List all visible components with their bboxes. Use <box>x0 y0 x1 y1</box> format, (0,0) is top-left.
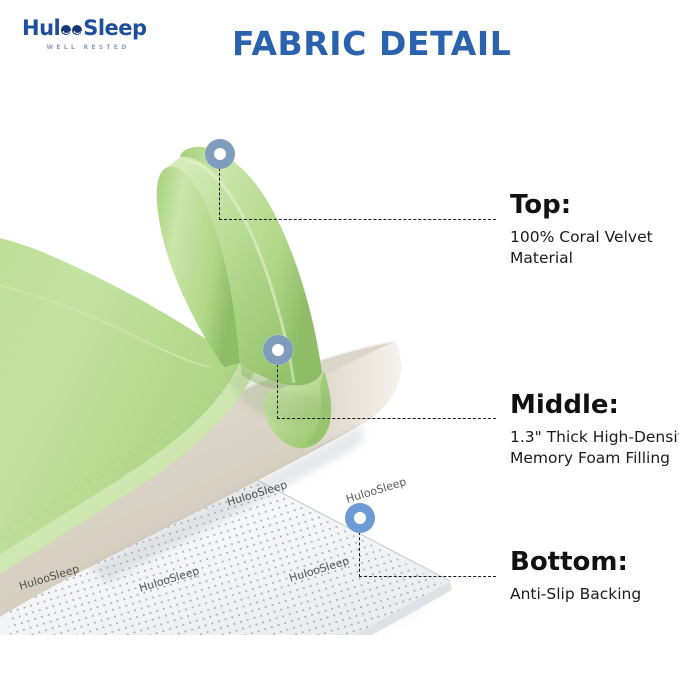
leader-line-middle-horizontal <box>277 418 496 419</box>
eye-left-icon <box>61 25 71 35</box>
page-title: FABRIC DETAIL <box>232 24 511 63</box>
sleeping-eyes-icon <box>61 25 82 35</box>
callout-bottom-heading: Bottom: <box>510 549 679 575</box>
callout-bottom-description: Anti-Slip Backing <box>510 584 679 605</box>
brand-logo: Hul Sleep WELL RESTED <box>22 18 172 64</box>
callout-marker-bottom[interactable] <box>345 503 375 533</box>
eye-right-icon <box>72 25 82 35</box>
callout-bottom: Bottom: Anti-Slip Backing <box>510 549 679 605</box>
marker-center-dot <box>272 344 284 356</box>
leader-line-top-vertical <box>219 168 220 220</box>
infographic-canvas: Hul Sleep WELL RESTED FABRIC DETAIL <box>0 0 679 679</box>
leader-line-bottom-horizontal <box>359 576 496 577</box>
marker-center-dot <box>214 148 226 160</box>
callout-top-heading: Top: <box>510 192 679 218</box>
callout-top-description: 100% Coral Velvet Material <box>510 227 679 268</box>
marker-center-dot <box>354 512 366 524</box>
brand-wordmark: Hul Sleep <box>22 18 172 39</box>
callout-middle-description: 1.3" Thick High-Density Memory Foam Fill… <box>510 427 679 468</box>
callout-marker-middle[interactable] <box>263 335 293 365</box>
callout-middle: Middle: 1.3" Thick High-Density Memory F… <box>510 392 679 468</box>
brand-name-suffix: Sleep <box>83 18 146 39</box>
leader-line-bottom-vertical <box>359 532 360 577</box>
brand-name-prefix: Hul <box>22 18 60 39</box>
leader-line-middle-vertical <box>277 364 278 419</box>
product-illustration <box>0 75 480 635</box>
callout-marker-top[interactable] <box>205 139 235 169</box>
brand-tagline: WELL RESTED <box>22 44 154 51</box>
leader-line-top-horizontal <box>219 219 496 220</box>
callout-middle-heading: Middle: <box>510 392 679 418</box>
callout-top: Top: 100% Coral Velvet Material <box>510 192 679 268</box>
